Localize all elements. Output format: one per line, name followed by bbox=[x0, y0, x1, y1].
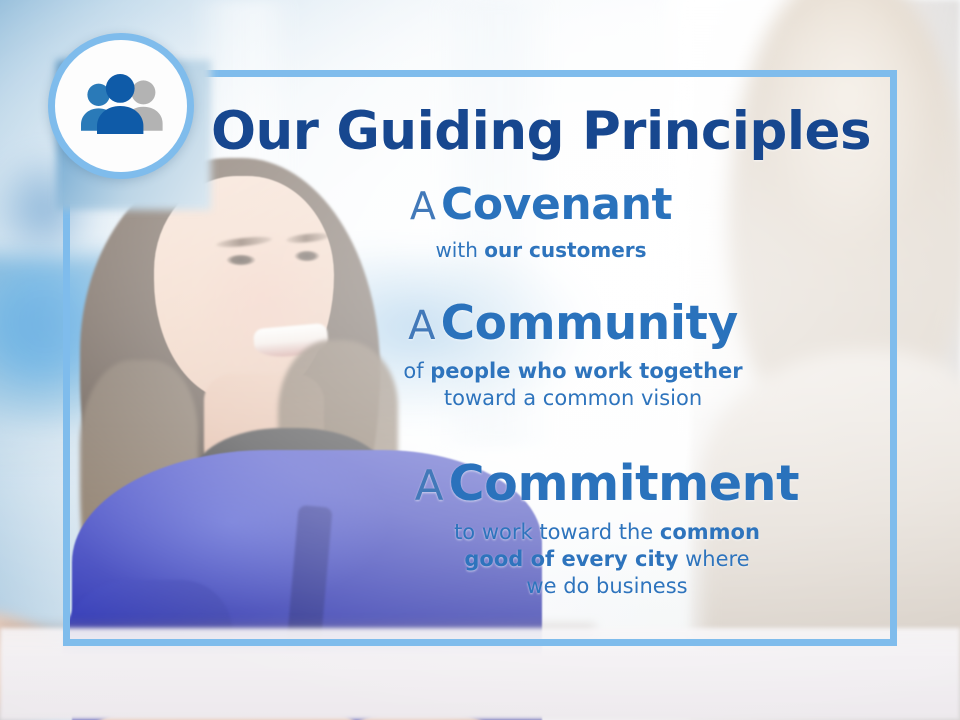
subtext-emphasis: people who work together bbox=[430, 359, 742, 383]
subtext-line: good of every city where bbox=[332, 546, 882, 573]
subtext-line: toward a common vision bbox=[264, 385, 882, 412]
subtext-emphasis: common bbox=[660, 520, 760, 544]
principle-article: A bbox=[408, 303, 435, 349]
subtext-line: with our customers bbox=[200, 237, 882, 263]
principle-keyword: Commitment bbox=[449, 455, 800, 512]
principle-block-community: A Community of people who work togethert… bbox=[200, 299, 882, 412]
subtext-run: where bbox=[678, 547, 749, 571]
principle-headline-commitment: A Commitment bbox=[332, 458, 882, 509]
people-group-icon bbox=[73, 71, 169, 141]
subtext-run: we do business bbox=[526, 574, 687, 598]
people-badge bbox=[48, 33, 194, 179]
subtext-emphasis: our customers bbox=[484, 238, 646, 262]
subtext-run: with bbox=[435, 238, 484, 262]
subtext-run: of bbox=[403, 359, 430, 383]
principle-block-commitment: A Commitment to work toward the commongo… bbox=[200, 458, 882, 600]
principle-keyword: Covenant bbox=[441, 179, 672, 230]
subtext-emphasis: good of every city bbox=[464, 547, 678, 571]
principle-block-covenant: A Covenant with our customers bbox=[200, 182, 882, 263]
subtext-line: to work toward the common bbox=[332, 519, 882, 546]
subtext-run: toward a common vision bbox=[444, 386, 702, 410]
subtext-line: of people who work together bbox=[264, 358, 882, 385]
poster: FLOW FLOW Our bbox=[0, 0, 960, 720]
principle-subtext-community: of people who work togethertoward a comm… bbox=[264, 358, 882, 413]
principle-subtext-covenant: with our customers bbox=[200, 237, 882, 263]
principle-keyword: Community bbox=[441, 296, 738, 351]
subtext-line: we do business bbox=[332, 573, 882, 600]
content-area: Our Guiding Principles A Covenant with o… bbox=[200, 72, 900, 642]
principle-headline-covenant: A Covenant bbox=[200, 182, 882, 228]
principle-article: A bbox=[415, 461, 444, 510]
subtext-run: to work toward the bbox=[454, 520, 660, 544]
principle-headline-community: A Community bbox=[264, 299, 882, 348]
page-title: Our Guiding Principles bbox=[200, 104, 882, 160]
principle-article: A bbox=[410, 184, 436, 228]
principle-subtext-commitment: to work toward the commongood of every c… bbox=[332, 519, 882, 601]
